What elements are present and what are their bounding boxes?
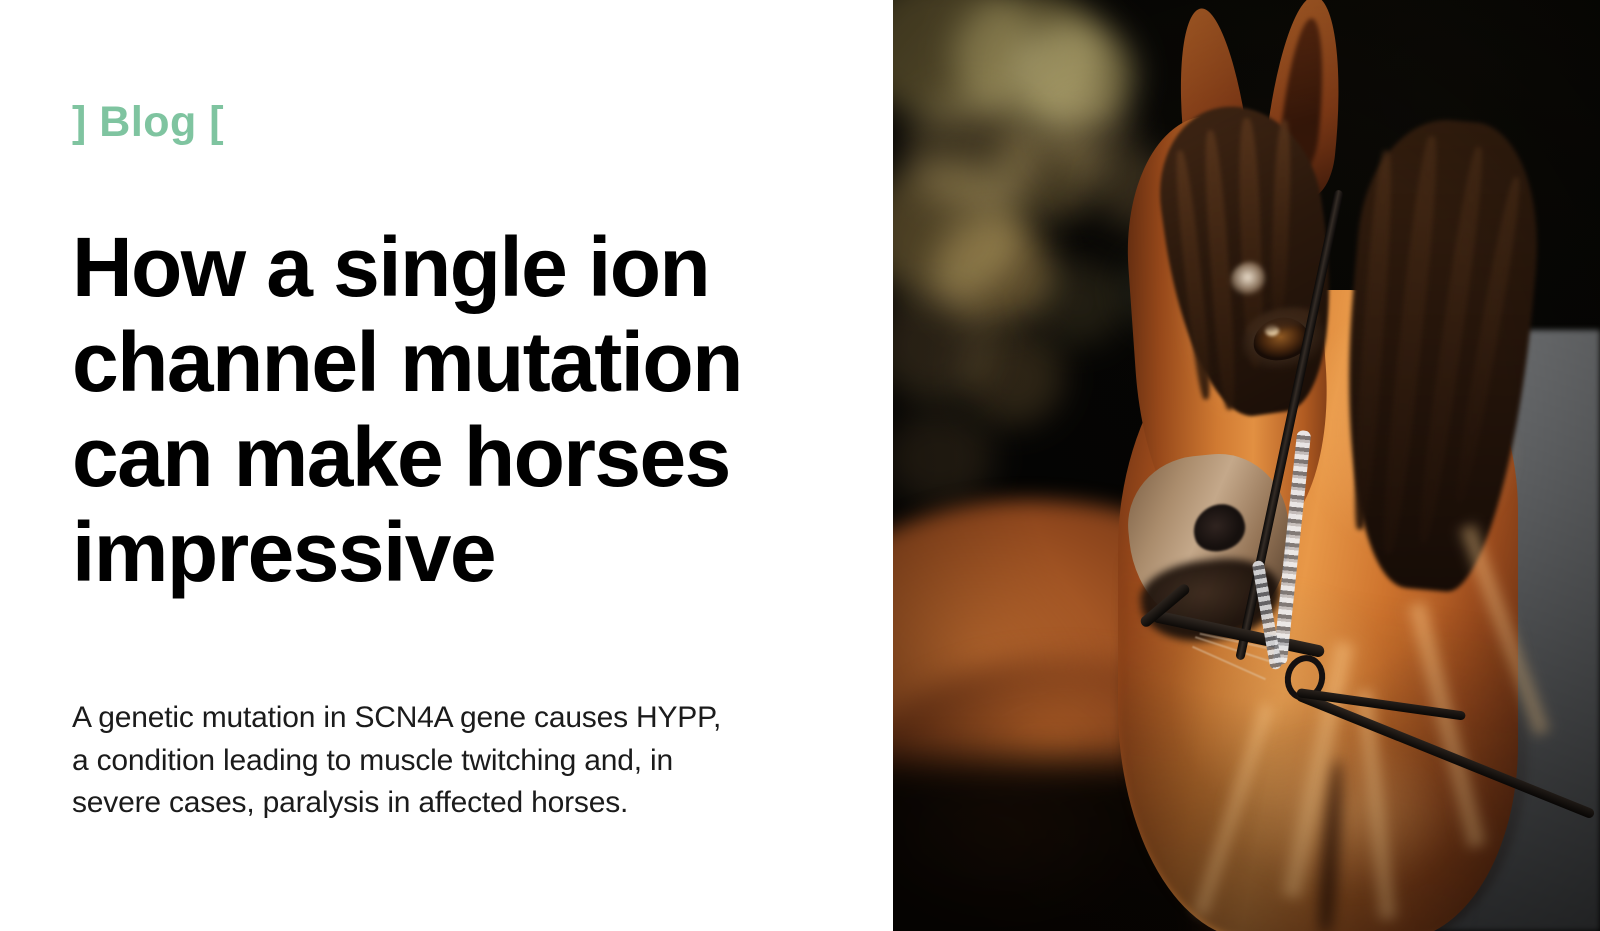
subcopy-line-2: a condition leading to muscle twitching … — [72, 740, 882, 783]
horse-figure — [893, 0, 1600, 931]
headline-line-1: How a single ion — [72, 220, 862, 315]
headline-line-4: impressive — [72, 505, 862, 600]
subcopy-line-3: severe cases, paralysis in affected hors… — [72, 782, 882, 825]
page-subcopy: A genetic mutation in SCN4A gene causes … — [72, 697, 882, 825]
page-title: How a single ion channel mutation can ma… — [72, 220, 862, 600]
headline-line-3: can make horses — [72, 410, 862, 505]
horse-photo-stage — [893, 0, 1600, 931]
blog-eyebrow-label: ] Blog [ — [72, 101, 224, 144]
subcopy-line-1: A genetic mutation in SCN4A gene causes … — [72, 697, 882, 740]
text-panel: ] Blog [ How a single ion channel mutati… — [0, 0, 893, 931]
horse-photo — [893, 0, 1600, 931]
blog-banner: ] Blog [ How a single ion channel mutati… — [0, 0, 1600, 931]
headline-line-2: channel mutation — [72, 315, 862, 410]
